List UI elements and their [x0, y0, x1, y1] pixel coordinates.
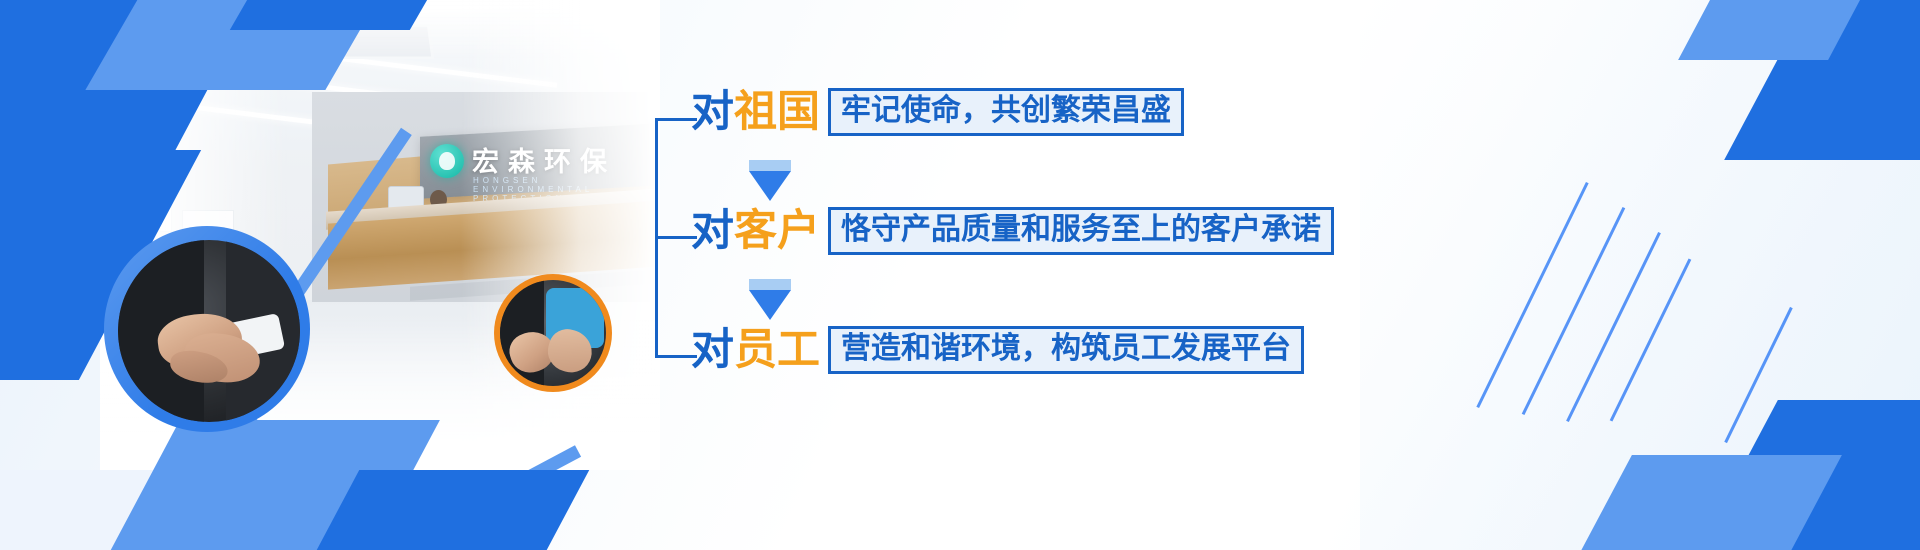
- down-arrow-2: [749, 279, 791, 320]
- slogan-row-1: 对祖国 牢记使命，共创繁荣昌盛: [691, 88, 1184, 136]
- slogan-lead-prefix: 对: [691, 206, 734, 256]
- company-logo-icon: [430, 144, 464, 178]
- slogan-panel: 对祖国 牢记使命，共创繁荣昌盛 对客户 恪守产品质量和服务至上的客户承诺 对员工: [645, 0, 1920, 550]
- arrow-triangle: [749, 290, 791, 320]
- slogan-text-3: 营造和谐环境，构筑员工发展平台: [841, 331, 1291, 366]
- slogan-lead-3: 对员工: [691, 329, 820, 372]
- slogan-lead-target: 员工: [734, 325, 820, 375]
- slogan-lead-prefix: 对: [691, 325, 734, 375]
- slogan-lead-prefix: 对: [691, 87, 734, 137]
- slogan-box-2: 恪守产品质量和服务至上的客户承诺: [828, 207, 1334, 255]
- handshake-photo: [118, 240, 300, 422]
- slogan-row-2: 对客户 恪守产品质量和服务至上的客户承诺: [691, 207, 1334, 255]
- arrow-cap: [749, 160, 791, 171]
- slogan-text-1: 牢记使命，共创繁荣昌盛: [841, 93, 1171, 128]
- slogan-lead-2: 对客户: [691, 210, 820, 253]
- slogan-lead-1: 对祖国: [691, 91, 820, 134]
- arrow-cap: [749, 279, 791, 290]
- slogan-lead-target: 客户: [734, 206, 820, 256]
- slogan-text-2: 恪守产品质量和服务至上的客户承诺: [841, 212, 1321, 247]
- banner-root: 宏森环保 HONGSEN ENVIRONMENTAL PROTECTION: [0, 0, 1920, 550]
- down-arrow-1: [749, 160, 791, 201]
- applause-photo: [500, 280, 606, 386]
- slogan-box-1: 牢记使命，共创繁荣昌盛: [828, 88, 1184, 136]
- slogan-row-3: 对员工 营造和谐环境，构筑员工发展平台: [691, 326, 1304, 374]
- slogan-lead-target: 祖国: [734, 87, 820, 137]
- arrow-triangle: [749, 171, 791, 201]
- slogan-box-3: 营造和谐环境，构筑员工发展平台: [828, 326, 1304, 374]
